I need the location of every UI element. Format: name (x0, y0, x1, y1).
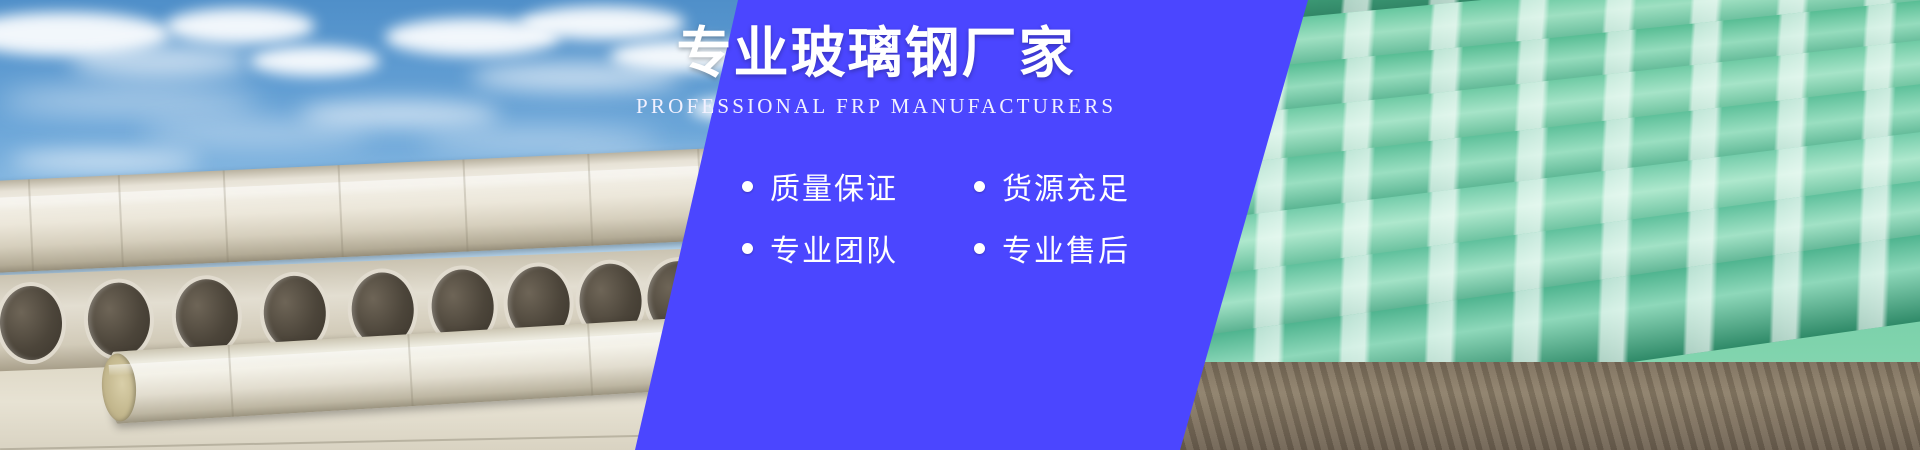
bullet-dot-icon (974, 243, 985, 254)
page-subtitle: PROFESSIONAL FRP MANUFACTURERS (636, 94, 1116, 119)
feature-label: 专业团队 (770, 226, 898, 270)
promo-banner: 专业玻璃钢厂家 PROFESSIONAL FRP MANUFACTURERS 质… (0, 0, 1920, 450)
title-block: 专业玻璃钢厂家 PROFESSIONAL FRP MANUFACTURERS (636, 22, 1116, 119)
bullet-dot-icon (974, 181, 985, 192)
feature-label: 专业售后 (1002, 226, 1130, 270)
feature-item-supply: 货源充足 (974, 164, 1212, 208)
feature-label: 质量保证 (770, 164, 898, 208)
panel-content: 专业玻璃钢厂家 PROFESSIONAL FRP MANUFACTURERS 质… (0, 0, 1920, 450)
feature-item-quality: 质量保证 (742, 164, 974, 208)
bullet-dot-icon (742, 181, 753, 192)
feature-item-team: 专业团队 (742, 226, 974, 270)
feature-label: 货源充足 (1002, 164, 1130, 208)
feature-list: 质量保证 货源充足 专业团队 专业售后 (742, 155, 1212, 279)
page-title: 专业玻璃钢厂家 (636, 22, 1116, 85)
bullet-dot-icon (742, 243, 753, 254)
feature-item-aftersales: 专业售后 (974, 226, 1212, 270)
